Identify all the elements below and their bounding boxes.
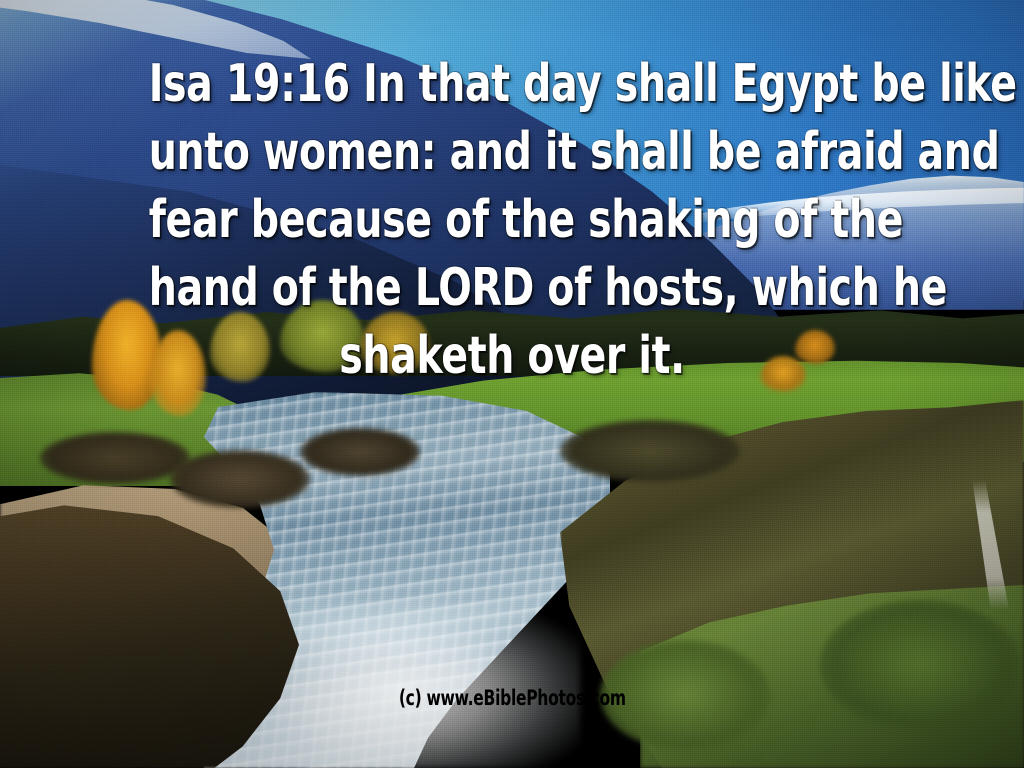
autumn-tree-clump — [210, 312, 270, 382]
brush-clump — [560, 420, 740, 482]
brush-clump — [820, 600, 1020, 730]
brush-clump — [40, 432, 190, 484]
whitewater-foam — [250, 600, 580, 768]
brush-clump — [300, 428, 420, 476]
autumn-tree-clump — [360, 312, 430, 374]
brush-clump — [600, 640, 770, 750]
autumn-tree-clump — [760, 356, 806, 392]
autumn-tree-clump — [280, 300, 364, 372]
brush-clump — [170, 450, 310, 508]
autumn-tree-clump — [795, 330, 835, 364]
autumn-tree-clump — [150, 330, 206, 416]
scripture-photo-image: Isa 19:16 In that day shall Egypt be lik… — [0, 0, 1024, 768]
